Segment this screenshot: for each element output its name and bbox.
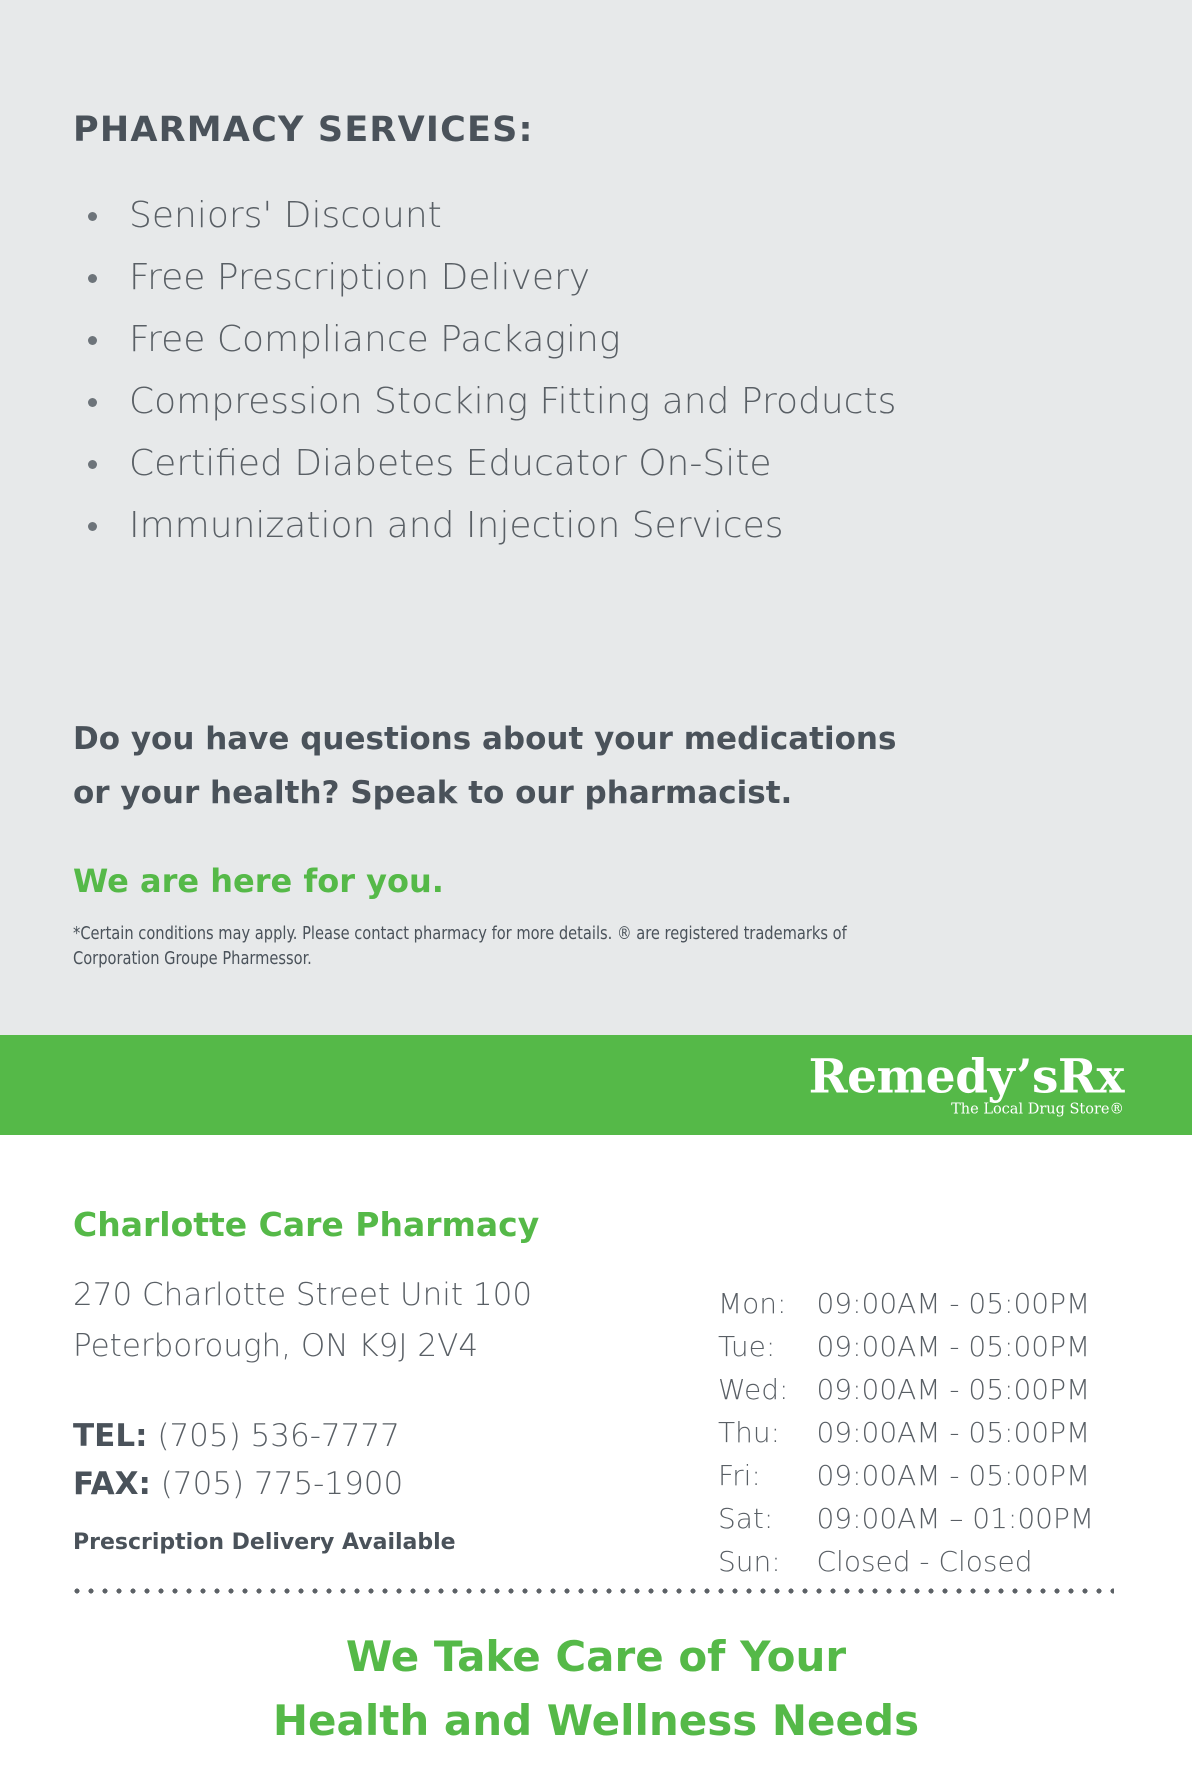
dotted-divider (70, 1588, 1114, 1594)
hours-time: 09:00AM - 05:00PM (816, 1411, 1094, 1454)
hours-row: Thu: 09:00AM - 05:00PM (718, 1411, 1094, 1454)
service-item-label: Compression Stocking Fitting and Product… (129, 381, 896, 422)
hours-day: Mon: (718, 1282, 816, 1325)
bottom-slogan: We Take Care of Your Health and Wellness… (0, 1625, 1192, 1753)
hours-day: Tue: (718, 1325, 816, 1368)
address-line-1: 270 Charlotte Street Unit 100 (73, 1270, 532, 1321)
bullet-icon (88, 336, 97, 345)
hours-time: 09:00AM - 05:00PM (816, 1454, 1094, 1497)
services-panel: PHARMACY SERVICES: Seniors' Discount Fre… (0, 0, 1192, 1035)
service-item-label: Free Compliance Packaging (129, 319, 620, 360)
pharmacist-question: Do you have questions about your medicat… (73, 712, 896, 820)
pharmacist-question-line2: or your health? Speak to our pharmacist. (73, 766, 896, 820)
service-item: Immunization and Injection Services (73, 495, 1113, 557)
remedysrx-logo: Remedy’sRx The Local Drug Store® (809, 1053, 1124, 1117)
service-item: Compression Stocking Fitting and Product… (73, 371, 1113, 433)
service-item-label: Seniors' Discount (129, 195, 442, 236)
service-item-label: Immunization and Injection Services (129, 505, 784, 546)
hours-day: Sun: (718, 1540, 816, 1583)
fax-value: (705) 775-1900 (161, 1466, 403, 1502)
bullet-icon (88, 274, 97, 283)
fax-row: FAX: (705) 775-1900 (73, 1460, 403, 1508)
disclaimer-text: *Certain conditions may apply. Please co… (73, 922, 1003, 972)
address-line-2: Peterborough, ON K9J 2V4 (73, 1321, 532, 1372)
disclaimer-line1: *Certain conditions may apply. Please co… (73, 922, 1003, 947)
hours-time: 09:00AM - 05:00PM (816, 1282, 1094, 1325)
hours-row: Tue: 09:00AM - 05:00PM (718, 1325, 1094, 1368)
hours-time: 09:00AM – 01:00PM (816, 1497, 1094, 1540)
service-item: Certified Diabetes Educator On-Site (73, 433, 1113, 495)
hours-time: Closed - Closed (816, 1540, 1094, 1583)
hours-day: Fri: (718, 1454, 816, 1497)
here-for-you-tagline: We are here for you. (73, 862, 444, 900)
service-item-label: Free Prescription Delivery (129, 257, 590, 298)
bullet-icon (88, 522, 97, 531)
brand-sub-tagline: The Local Drug Store® (809, 1102, 1124, 1117)
hours-row: Mon: 09:00AM - 05:00PM (718, 1282, 1094, 1325)
hours-day: Sat: (718, 1497, 816, 1540)
hours-time: 09:00AM - 05:00PM (816, 1325, 1094, 1368)
bottom-slogan-line2: Health and Wellness Needs (0, 1689, 1192, 1753)
store-contact: TEL: (705) 536-7777 FAX: (705) 775-1900 (73, 1412, 403, 1508)
brand-band: Remedy’sRx The Local Drug Store® (0, 1035, 1192, 1135)
store-address: 270 Charlotte Street Unit 100 Peterborou… (73, 1270, 532, 1372)
service-item: Free Compliance Packaging (73, 309, 1113, 371)
hours-day: Thu: (718, 1411, 816, 1454)
hours-row: Wed: 09:00AM - 05:00PM (718, 1368, 1094, 1411)
services-list: Seniors' Discount Free Prescription Deli… (73, 185, 1113, 557)
fax-label: FAX: (73, 1466, 151, 1502)
bullet-icon (88, 460, 97, 469)
service-item: Free Prescription Delivery (73, 247, 1113, 309)
pharmacy-flyer: PHARMACY SERVICES: Seniors' Discount Fre… (0, 0, 1192, 1785)
brand-name: Remedy’sRx (809, 1053, 1124, 1100)
services-heading: PHARMACY SERVICES: (73, 110, 534, 150)
disclaimer-line2: Corporation Groupe Pharmessor. (73, 947, 1003, 972)
store-hours-table: Mon: 09:00AM - 05:00PM Tue: 09:00AM - 05… (718, 1282, 1094, 1583)
hours-row: Sun: Closed - Closed (718, 1540, 1094, 1583)
telephone-label: TEL: (73, 1418, 147, 1454)
hours-time: 09:00AM - 05:00PM (816, 1368, 1094, 1411)
hours-row: Fri: 09:00AM - 05:00PM (718, 1454, 1094, 1497)
service-item-label: Certified Diabetes Educator On-Site (129, 443, 771, 484)
bullet-icon (88, 212, 97, 221)
store-name: Charlotte Care Pharmacy (73, 1205, 539, 1244)
hours-row: Sat: 09:00AM – 01:00PM (718, 1497, 1094, 1540)
telephone-row: TEL: (705) 536-7777 (73, 1412, 403, 1460)
service-item: Seniors' Discount (73, 185, 1113, 247)
bottom-slogan-line1: We Take Care of Your (0, 1625, 1192, 1689)
delivery-note: Prescription Delivery Available (73, 1530, 456, 1555)
pharmacist-question-line1: Do you have questions about your medicat… (73, 712, 896, 766)
bullet-icon (88, 398, 97, 407)
telephone-value: (705) 536-7777 (157, 1418, 399, 1454)
hours-day: Wed: (718, 1368, 816, 1411)
